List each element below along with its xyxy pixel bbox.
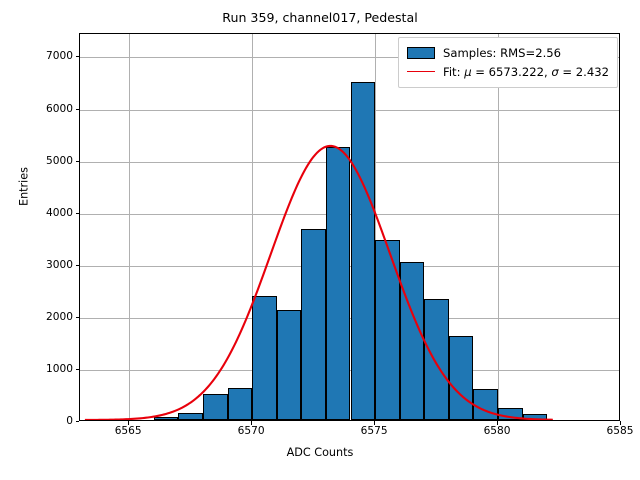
y-tick-mark bbox=[76, 109, 80, 110]
legend-entry-fit[interactable]: Fit: μ = 6573.222, σ = 2.432 bbox=[407, 62, 609, 81]
x-tick-label: 6585 bbox=[607, 425, 634, 437]
y-tick-label: 7000 bbox=[46, 50, 73, 62]
y-tick-mark bbox=[76, 369, 80, 370]
y-tick-mark bbox=[76, 56, 80, 57]
x-tick-label: 6580 bbox=[484, 425, 511, 437]
figure-canvas: Run 359, channel017, Pedestal 6565657065… bbox=[0, 0, 640, 480]
legend-label-samples: Samples: RMS=2.56 bbox=[443, 46, 561, 60]
plot-area bbox=[79, 33, 620, 421]
chart-legend[interactable]: Samples: RMS=2.56 Fit: μ = 6573.222, σ =… bbox=[398, 37, 618, 88]
x-tick-mark bbox=[251, 421, 252, 425]
legend-entry-samples[interactable]: Samples: RMS=2.56 bbox=[407, 43, 609, 62]
x-axis-label: ADC Counts bbox=[0, 446, 640, 459]
y-tick-mark bbox=[76, 421, 80, 422]
y-tick-mark bbox=[76, 317, 80, 318]
y-tick-label: 0 bbox=[66, 415, 73, 427]
y-tick-label: 1000 bbox=[46, 363, 73, 375]
y-tick-label: 5000 bbox=[46, 155, 73, 167]
y-tick-labels: 01000200030004000500060007000 bbox=[0, 0, 73, 480]
fit-path bbox=[85, 146, 553, 420]
legend-line-fit bbox=[407, 71, 435, 72]
y-tick-mark bbox=[76, 265, 80, 266]
x-tick-label: 6570 bbox=[238, 425, 265, 437]
x-tick-label: 6575 bbox=[361, 425, 388, 437]
x-tick-mark bbox=[620, 421, 621, 425]
y-tick-label: 2000 bbox=[46, 311, 73, 323]
legend-label-fit: Fit: μ = 6573.222, σ = 2.432 bbox=[443, 65, 609, 79]
x-tick-mark bbox=[128, 421, 129, 425]
y-tick-mark bbox=[76, 161, 80, 162]
y-tick-mark bbox=[76, 213, 80, 214]
x-tick-mark bbox=[497, 421, 498, 425]
x-tick-mark bbox=[374, 421, 375, 425]
y-tick-label: 4000 bbox=[46, 207, 73, 219]
legend-fit-sigma-symbol: σ bbox=[551, 65, 558, 79]
y-axis-label: Entries bbox=[18, 87, 31, 287]
x-tick-label: 6565 bbox=[115, 425, 142, 437]
legend-swatch-samples bbox=[407, 47, 435, 59]
chart-title: Run 359, channel017, Pedestal bbox=[0, 10, 640, 25]
legend-fit-prefix: Fit: bbox=[443, 65, 464, 79]
legend-fit-mu-symbol: μ bbox=[464, 65, 471, 79]
legend-fit-mu-value: = 6573.222, bbox=[472, 65, 552, 79]
legend-fit-sigma-value: = 2.432 bbox=[559, 65, 609, 79]
y-tick-label: 3000 bbox=[46, 259, 73, 271]
y-tick-label: 6000 bbox=[46, 103, 73, 115]
gaussian-fit-curve bbox=[80, 34, 619, 420]
